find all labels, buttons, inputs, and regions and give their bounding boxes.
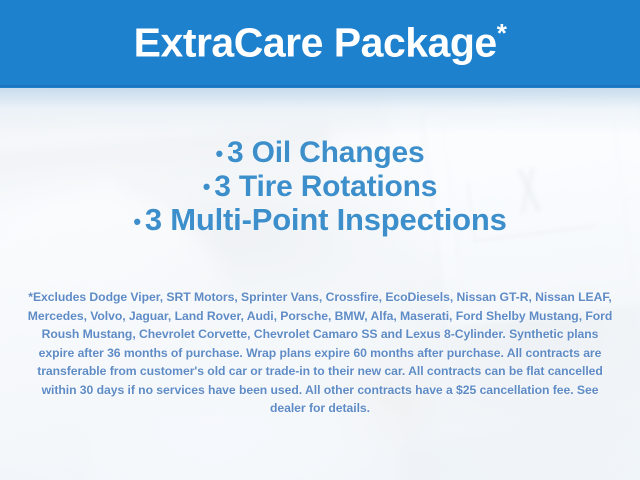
page-title: ExtraCare Package* xyxy=(134,20,507,64)
extracare-promo-banner: ExtraCare Package* •3 Oil Changes •3 Tir… xyxy=(0,0,640,480)
benefit-item-oil-changes: •3 Oil Changes xyxy=(0,136,640,170)
bullet-dot-icon: • xyxy=(203,174,215,199)
benefits-list: •3 Oil Changes •3 Tire Rotations •3 Mult… xyxy=(0,136,640,238)
header-bar: ExtraCare Package* xyxy=(0,0,640,88)
benefit-item-label: 3 Oil Changes xyxy=(227,136,424,169)
background-top-glow-overlay xyxy=(0,88,640,134)
benefit-item-multi-point-inspections: •3 Multi-Point Inspections xyxy=(0,203,640,238)
bullet-dot-icon: • xyxy=(133,209,145,234)
disclaimer-text: *Excludes Dodge Viper, SRT Motors, Sprin… xyxy=(24,288,616,418)
benefit-item-tire-rotations: •3 Tire Rotations xyxy=(0,170,640,204)
page-title-asterisk: * xyxy=(497,18,507,48)
page-title-text: ExtraCare Package xyxy=(134,20,497,66)
benefit-item-label: 3 Tire Rotations xyxy=(214,170,437,203)
benefit-item-label: 3 Multi-Point Inspections xyxy=(145,202,507,237)
bullet-dot-icon: • xyxy=(216,141,228,166)
